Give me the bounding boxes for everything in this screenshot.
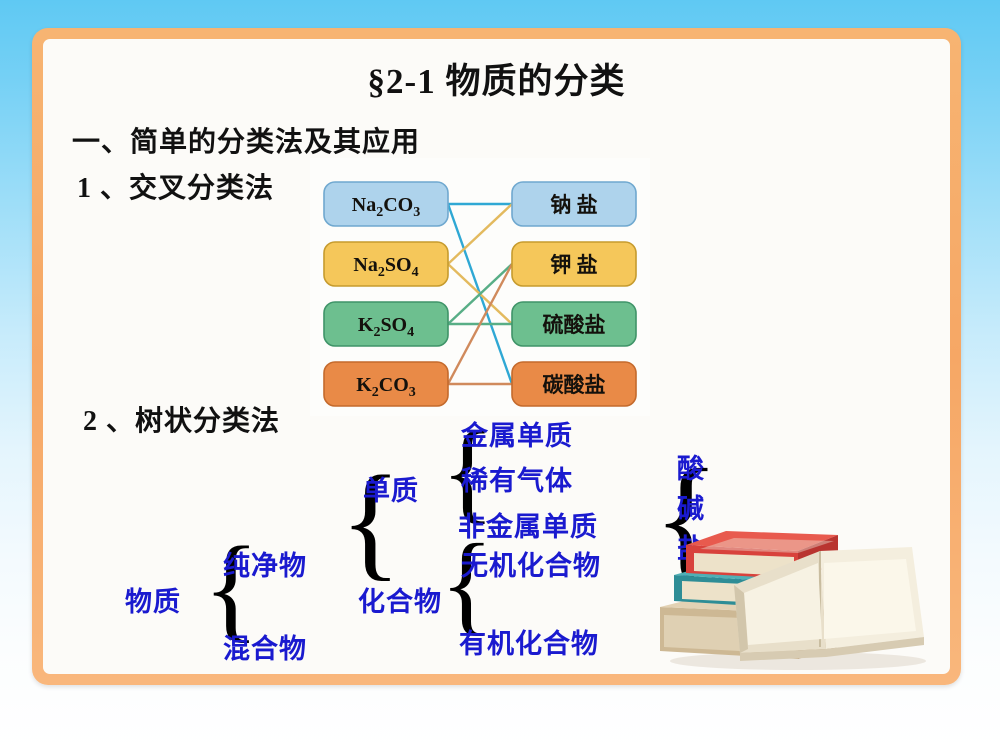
tree-node-pure-substance: 纯净物 [223, 544, 307, 583]
subheading-tree-classification: 2 、树状分类法 [83, 399, 280, 439]
right-node-potassium-salt-label: 钾 盐 [550, 253, 597, 277]
tree-node-matter: 物质 [125, 580, 181, 619]
tree-node-element: 单质 [363, 469, 419, 508]
brace-compound: { [440, 528, 494, 640]
right-node-carbonate: 碳酸盐 [512, 362, 636, 406]
tree-node-mixture: 混合物 [223, 627, 307, 666]
subheading-cross-classification: 1 、交叉分类法 [77, 166, 274, 206]
page-title: §2-1 物质的分类 [43, 53, 950, 104]
brace-pure-substance: { [340, 457, 401, 585]
left-node-k2so4: K2SO4 [324, 302, 448, 346]
tree-node-noble-gas: 稀有气体 [461, 459, 573, 498]
left-node-na2co3: Na2CO3 [324, 182, 448, 226]
brace-matter: { [203, 529, 260, 647]
right-node-sodium-salt-label: 钠 盐 [550, 193, 597, 217]
left-node-k2co3: K2CO3 [324, 362, 448, 406]
tree-node-metal-element: 金属单质 [461, 414, 573, 453]
cross-classification-diagram: Na2CO3 Na2SO4 K2SO4 K2CO3 [310, 158, 650, 416]
right-node-sulfate-label: 硫酸盐 [543, 313, 606, 337]
tree-node-organic-compound: 有机化合物 [459, 622, 599, 661]
tree-node-acid: 酸 [677, 447, 705, 486]
right-node-sulfate: 硫酸盐 [512, 302, 636, 346]
section-heading-one: 一、简单的分类法及其应用 [72, 120, 420, 160]
content-panel-frame: §2-1 物质的分类 一、简单的分类法及其应用 1 、交叉分类法 2 、树状分类… [32, 28, 961, 685]
left-node-na2so4: Na2SO4 [324, 242, 448, 286]
right-node-potassium-salt: 钾 盐 [512, 242, 636, 286]
brace-element: { [441, 416, 495, 528]
tree-node-nonmetal-element: 非金属单质 [458, 505, 598, 544]
slide-canvas: §2-1 物质的分类 一、简单的分类法及其应用 1 、交叉分类法 2 、树状分类… [0, 0, 1000, 750]
right-node-carbonate-label: 碳酸盐 [543, 373, 606, 397]
content-panel: §2-1 物质的分类 一、简单的分类法及其应用 1 、交叉分类法 2 、树状分类… [43, 39, 950, 674]
right-node-sodium-salt: 钠 盐 [512, 182, 636, 226]
stacked-books-icon [648, 489, 948, 674]
tree-node-inorganic-compound: 无机化合物 [461, 544, 601, 583]
tree-node-compound: 化合物 [358, 580, 442, 619]
